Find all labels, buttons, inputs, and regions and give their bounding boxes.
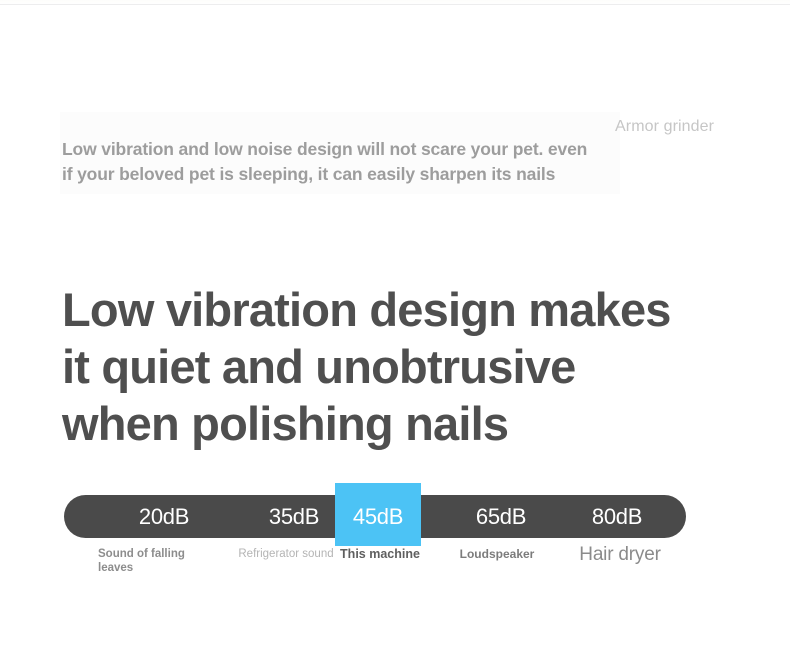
headline-line-1: Low vibration design makes bbox=[62, 281, 742, 338]
noise-tick-80db: 80dB bbox=[552, 495, 682, 538]
noise-tick-20db: 20dB bbox=[94, 495, 234, 538]
noise-tick-45db: 45dB bbox=[335, 495, 421, 538]
headline-line-2: it quiet and unobtrusive bbox=[62, 338, 742, 395]
noise-caption-3: Loudspeaker bbox=[442, 548, 552, 561]
promo-poster: Low vibration and low noise design will … bbox=[0, 0, 790, 662]
noise-caption-4: Hair dryer bbox=[550, 548, 690, 561]
noise-caption-2: This machine bbox=[332, 548, 428, 561]
noise-caption-0: Sound of falling leaves bbox=[98, 548, 208, 575]
noise-scale: 20dB35dB45dB65dB80dB Sound of falling le… bbox=[64, 478, 686, 558]
promo-subtitle: Low vibration and low noise design will … bbox=[62, 137, 602, 187]
headline-line-3: when polishing nails bbox=[62, 395, 742, 452]
brand-note: Armor grinder bbox=[615, 117, 714, 137]
top-divider bbox=[0, 4, 790, 5]
noise-tick-65db: 65dB bbox=[436, 495, 566, 538]
promo-headline: Low vibration design makes it quiet and … bbox=[62, 281, 742, 452]
